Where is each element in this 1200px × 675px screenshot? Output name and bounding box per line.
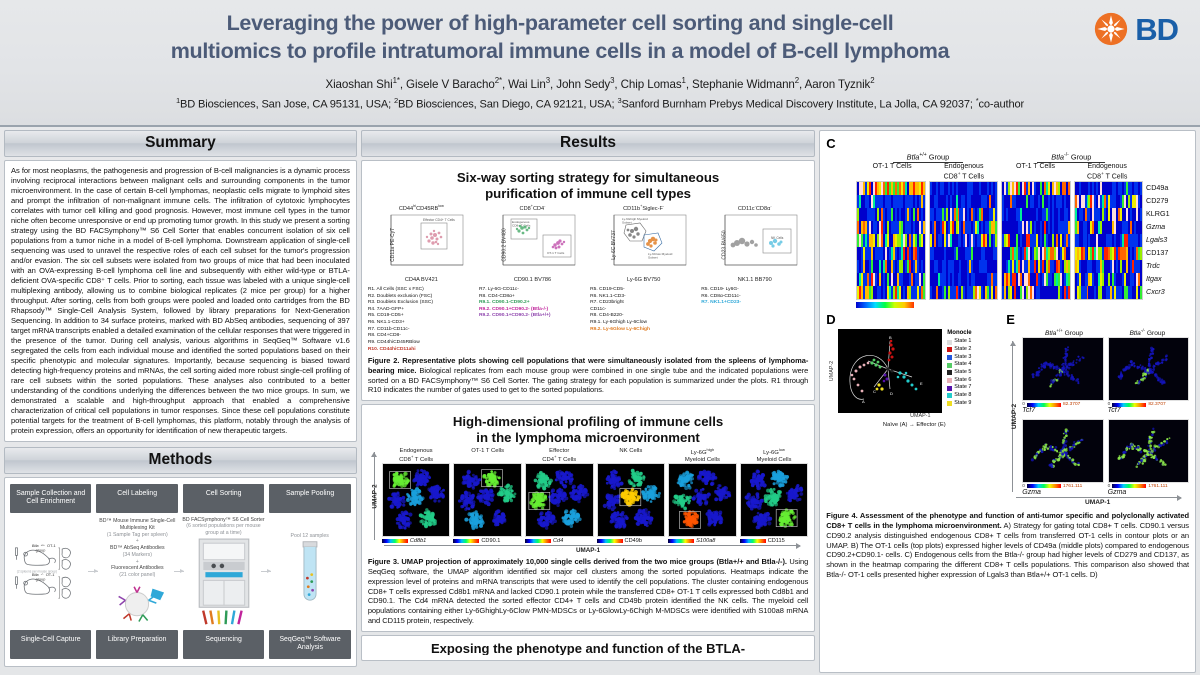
flow-plot-header: CD8+CD4- bbox=[520, 204, 546, 212]
figure5-panel-partial: Exposing the phenotype and function of t… bbox=[361, 635, 815, 661]
umap-panel-header: NK Cells bbox=[619, 448, 642, 463]
heatmap-cell bbox=[1068, 182, 1070, 195]
methods-mice-illustration: Btla +/+ OT-1 group bbox=[10, 539, 92, 602]
gating-entry: R1. All Cells (SSC x FSC) bbox=[368, 287, 475, 294]
heatmap-cell bbox=[1068, 286, 1070, 299]
gating-list-1: R1. All Cells (SSC x FSC)R2. Doublets ex… bbox=[368, 287, 475, 353]
figure3-panel: High-dimensional profiling of immune cel… bbox=[361, 404, 815, 631]
heatmap-row bbox=[1002, 247, 1069, 260]
panel-e-cell: 082.3707Tcf7 bbox=[1108, 337, 1189, 415]
middle-column: Results Six-way sorting strategy for sim… bbox=[361, 130, 815, 675]
panel-e-cell: 01761.111Gzma bbox=[1108, 419, 1189, 497]
umap-panel: EffectorCD4+ T CellsCd4 bbox=[525, 448, 594, 544]
heatmap-group-ko: Btla-/- Group bbox=[1000, 152, 1143, 163]
color-scale-bar bbox=[1112, 484, 1146, 488]
gating-list-3: R5. CD19-CD5-R6. NK1.1-CD3-R7. CD23brigh… bbox=[590, 287, 697, 353]
plus-sign-1: + bbox=[136, 538, 139, 544]
methods-sorter-illustration: BD FACSymphony™ S6 Cell Sorter (6 sorted… bbox=[182, 517, 264, 626]
heatmap-row bbox=[857, 234, 924, 247]
figure2-title: Six-way sorting strategy for simultaneou… bbox=[368, 170, 808, 201]
heatmap-cell bbox=[995, 221, 997, 234]
heatmap-cell bbox=[1140, 182, 1142, 195]
affiliation-list: 1BD Biosciences, San Jose, CA 95131, USA… bbox=[0, 96, 1200, 111]
gating-list-2: R7. Ly-6G-CD11c-R8. CD4-CD8α+R9.1. CD90.… bbox=[479, 287, 586, 353]
heatmap-cell bbox=[1068, 247, 1070, 260]
heatmap-row-label: CD279 bbox=[1146, 194, 1189, 207]
heatmap-row-label: Gzma bbox=[1146, 220, 1189, 233]
color-scale-bar bbox=[453, 539, 479, 543]
svg-text:A: A bbox=[862, 399, 865, 404]
figure3-title-line2: in the lymphoma microenvironment bbox=[368, 430, 808, 446]
figure2-plot-row: CD44hiCD45RBlow CD11a PE-Cy7 Effector CD… bbox=[368, 204, 808, 283]
monocle-pseudotime-caption: Naïve (A) → Effector (E) bbox=[826, 422, 1002, 428]
umap-panel-header: Ly-6GhighMyeloid Cells bbox=[685, 448, 720, 463]
legend-swatch bbox=[947, 393, 952, 398]
flow-plot-canvas: CD11a PE-Cy7 Effector CD4+ T Cells bbox=[377, 213, 465, 277]
figure3-umap-grid-wrap: UMAP-2 EndogenousCD8+ T CellsCd8b1OT-1 T… bbox=[368, 448, 808, 544]
umap-panel: Ly-6GlowMyeloid CellsCD115 bbox=[740, 448, 809, 544]
svg-text:Effector CD4+ T Cells: Effector CD4+ T Cells bbox=[423, 218, 455, 222]
panel-e-group-headers: Btla+/+ Group Btla-/- Group bbox=[1022, 328, 1189, 337]
heatmap-row bbox=[1075, 234, 1142, 247]
panel-e: E Btla+/+ Group Btla-/- Group UMAP-2 082… bbox=[1006, 312, 1189, 507]
gating-entry: R5. CD19-CD5- bbox=[590, 287, 697, 294]
panel-e-umap-image bbox=[1108, 337, 1189, 401]
figure2-title-line1: Six-way sorting strategy for simultaneou… bbox=[368, 170, 808, 186]
color-scale-bar bbox=[668, 539, 694, 543]
heatmap-row bbox=[857, 260, 924, 273]
flow-x-axis-label: NK1.1 BB790 bbox=[738, 277, 772, 283]
color-scale-bar bbox=[740, 539, 766, 543]
umap-marker-label: Cd4 bbox=[553, 538, 563, 544]
methods-step-cell-labeling: Cell Labeling bbox=[96, 484, 177, 513]
flow-x-axis-label: CD4A BV421 bbox=[405, 277, 438, 283]
legend-label: State 6 bbox=[954, 377, 971, 385]
monocle-legend-item: State 6 bbox=[947, 377, 971, 385]
heatmap-row bbox=[857, 208, 924, 221]
flow-plot-header: CD44hiCD45RBlow bbox=[399, 204, 444, 212]
fluor-name: Fluorescent Antibodies bbox=[111, 565, 163, 571]
instrument-name: BD FACSymphony™ S6 Cell Sorter bbox=[182, 517, 264, 523]
flow-x-axis-label: CD90.1 BV786 bbox=[514, 277, 551, 283]
heatmap-row bbox=[1002, 273, 1069, 286]
methods-pooling-illustration: Pool 12 samples bbox=[269, 533, 351, 609]
svg-text:NK Cells: NK Cells bbox=[771, 236, 784, 240]
figure2-panel: Six-way sorting strategy for simultaneou… bbox=[361, 160, 815, 401]
sorted-streams-icon bbox=[200, 609, 248, 625]
gating-entry: R7. Ly-6G-CD11c- bbox=[479, 287, 586, 294]
gating-entry: R7. CD23bright bbox=[590, 300, 697, 307]
kit-name: BD™ Mouse Immune Single-Cell Multiplexin… bbox=[99, 518, 175, 531]
heatmap-cell bbox=[1140, 286, 1142, 299]
svg-text:group: group bbox=[36, 549, 46, 553]
heatmap-row bbox=[930, 260, 997, 273]
svg-text:B: B bbox=[889, 335, 892, 340]
umap-color-scale: S100a8 bbox=[668, 538, 737, 544]
heatmap-row bbox=[1075, 286, 1142, 299]
heatmap-row-labels: CD49aCD279KLRG1GzmaLgals3CD137TrdcItgaxC… bbox=[1143, 181, 1189, 300]
flow-plot-cd8-cd4: CD8+CD4- CD90.2 BV480 Endogenous CD8+ T … bbox=[479, 204, 586, 283]
heatmap-cell bbox=[923, 273, 925, 286]
heatmap-row bbox=[1075, 208, 1142, 221]
legend-swatch bbox=[947, 355, 952, 360]
author-list: Xiaoshan Shi1*, Gisele V Baracho2*, Wai … bbox=[0, 76, 1200, 91]
svg-text:E: E bbox=[920, 381, 923, 386]
monocle-x-axis-label: UMAP-1 bbox=[838, 413, 1002, 419]
figure2-caption-rest: Biological replicates from each mouse gr… bbox=[368, 366, 808, 395]
figure3-title: High-dimensional profiling of immune cel… bbox=[368, 414, 808, 445]
heatmap-row-label: CD49a bbox=[1146, 181, 1189, 194]
flow-x-axis-label: Ly-6G BV750 bbox=[627, 277, 660, 283]
heatmap-cell bbox=[1068, 234, 1070, 247]
heatmap-row-label: CD137 bbox=[1146, 246, 1189, 259]
page-title: Leveraging the power of high-parameter c… bbox=[0, 6, 1200, 65]
panel-e-letter: E bbox=[1006, 312, 1189, 327]
flow-y-axis-label: CD90.2 BV480 bbox=[501, 228, 507, 261]
heatmap-group-wt: Btla+/+ Group bbox=[856, 152, 999, 163]
legend-label: State 5 bbox=[954, 369, 971, 377]
panel-d: D UMAP-2 bbox=[826, 312, 1002, 507]
umap-marker-label: S100a8 bbox=[696, 538, 715, 544]
poster-header: Leveraging the power of high-parameter c… bbox=[0, 0, 1200, 127]
panel-e-umap-image bbox=[1022, 419, 1103, 483]
heatmap-cell bbox=[1068, 273, 1070, 286]
legend-swatch bbox=[947, 401, 952, 406]
umap-color-scale: CD90.1 bbox=[453, 538, 522, 544]
panel-e-y-axis: UMAP-2 bbox=[1006, 337, 1022, 496]
heatmap-cell bbox=[923, 247, 925, 260]
heatmap-block bbox=[856, 181, 925, 300]
umap-marker-label: CD49b bbox=[625, 538, 642, 544]
heatmap-cell bbox=[995, 234, 997, 247]
legend-swatch bbox=[947, 340, 952, 345]
heatmap-row bbox=[1075, 221, 1142, 234]
title-line-2: multiomics to profile intratumoral immun… bbox=[40, 38, 1080, 66]
left-column: Summary As for most neoplasms, the patho… bbox=[4, 130, 357, 675]
heatmap-cell bbox=[1068, 221, 1070, 234]
panel-e-y-axis-label: UMAP-2 bbox=[1011, 404, 1018, 429]
heatmap-cell bbox=[923, 195, 925, 208]
flow-y-axis-label: CD23 BV650 bbox=[721, 230, 727, 259]
heatmap-row bbox=[1075, 260, 1142, 273]
heatmap-blocks bbox=[856, 181, 1143, 300]
panel-e-gene-label: Tcf7 bbox=[1022, 407, 1103, 415]
methods-instrument-label: BD FACSymphony™ S6 Cell Sorter (6 sorted… bbox=[182, 517, 264, 537]
flow-plot-canvas: CD23 BV650 NK Cells bbox=[711, 213, 799, 277]
instrument-note: (6 sorted populations per mouse group at… bbox=[186, 523, 260, 536]
legend-swatch bbox=[947, 347, 952, 352]
figure5-title-partial: Exposing the phenotype and function of t… bbox=[368, 641, 808, 655]
heatmap-row bbox=[930, 208, 997, 221]
summary-heading: Summary bbox=[4, 130, 357, 157]
figure3-caption-bold: Figure 3. UMAP projection of approximate… bbox=[368, 557, 787, 566]
figure3-caption: Figure 3. UMAP projection of approximate… bbox=[368, 557, 808, 625]
umap-heatmap-image bbox=[382, 463, 451, 537]
heatmap-cell bbox=[995, 273, 997, 286]
flow-plot-canvas: CD90.2 BV480 Endogenous CD8+ T Cells OT-… bbox=[489, 213, 577, 277]
heatmap-row bbox=[930, 182, 997, 195]
flow-plot-cd44-cd45rb: CD44hiCD45RBlow CD11a PE-Cy7 Effector CD… bbox=[368, 204, 475, 283]
figure2-gating-lists: R1. All Cells (SSC x FSC)R2. Doublets ex… bbox=[368, 287, 808, 353]
panel-e-group-ko: Btla-/- Group bbox=[1106, 328, 1189, 337]
heatmap-row bbox=[1002, 286, 1069, 299]
summary-text: As for most neoplasms, the pathogenesis … bbox=[11, 166, 350, 436]
heatmap-subgroup-ot1-ko: OT-1 T Cells bbox=[1000, 163, 1072, 180]
umap-panel: Ly-6GhighMyeloid CellsS100a8 bbox=[668, 448, 737, 544]
heatmap-subgroup-headers: OT-1 T Cells EndogenousCD8+ T Cells OT-1… bbox=[856, 163, 1143, 180]
gating-entry: R10. CD44hiCD11ahi bbox=[368, 347, 475, 354]
monocle-legend-item: State 8 bbox=[947, 392, 971, 400]
abseq-note: (34 Markers) bbox=[123, 552, 152, 558]
color-scale-bar bbox=[1027, 403, 1061, 407]
heatmap-cell bbox=[923, 260, 925, 273]
monocle-svg: BAC DE bbox=[838, 329, 942, 413]
umap-panel-header: OT-1 T Cells bbox=[471, 448, 504, 463]
methods-bottom-steps: Single-Cell Capture Library Preparation … bbox=[10, 630, 351, 659]
methods-kit-label: BD™ Mouse Immune Single-Cell Multiplexin… bbox=[96, 518, 178, 579]
flow-y-axis-label: Ly-6C BV737 bbox=[610, 230, 616, 260]
methods-pool-label: Pool 12 samples bbox=[291, 533, 329, 540]
poster-root: Leveraging the power of high-parameter c… bbox=[0, 0, 1200, 675]
panels-d-e-wrap: D UMAP-2 bbox=[826, 312, 1189, 507]
heatmap-row bbox=[1002, 182, 1069, 195]
heatmap-row bbox=[930, 221, 997, 234]
color-scale-max: 82.3707 bbox=[1148, 402, 1165, 407]
umap-heatmap-image bbox=[740, 463, 809, 537]
legend-label: State 9 bbox=[954, 400, 971, 408]
figure3-x-axis-label: UMAP-1 bbox=[368, 547, 808, 554]
heatmap-row bbox=[1075, 273, 1142, 286]
bd-burst-icon bbox=[1094, 12, 1128, 46]
legend-label: State 1 bbox=[954, 338, 971, 346]
umap-color-scale: Cd8b1 bbox=[382, 538, 451, 544]
heatmap-row-label: KLRG1 bbox=[1146, 207, 1189, 220]
svg-text:+/+: +/+ bbox=[41, 543, 45, 547]
legend-label: State 3 bbox=[954, 354, 971, 362]
heatmap-row bbox=[1002, 234, 1069, 247]
x-axis-arrow-icon bbox=[384, 545, 800, 546]
color-scale-bar bbox=[525, 539, 551, 543]
monocle-trajectory-plot: BAC DE bbox=[838, 329, 942, 413]
heatmap-group-headers: Btla+/+ Group Btla-/- Group bbox=[856, 152, 1143, 163]
legend-label: State 8 bbox=[954, 392, 971, 400]
figure2-title-line2: purification of immune cell types bbox=[368, 186, 808, 202]
summary-panel: As for most neoplasms, the pathogenesis … bbox=[4, 160, 357, 442]
svg-text:OT-1 T Cells: OT-1 T Cells bbox=[547, 251, 565, 255]
flow-plot-cd11b-siglecf: CD11b+Siglec-F- Ly-6C BV737 Ly-6Ghigh My… bbox=[590, 204, 697, 283]
right-column: C Btla+/+ Group Btla-/- Group OT-1 T Cel… bbox=[819, 130, 1196, 675]
color-scale-bar bbox=[1027, 484, 1061, 488]
bd-logo: BD bbox=[1094, 12, 1178, 46]
umap-heatmap-image bbox=[597, 463, 666, 537]
abseq-name: BD™ AbSeq Antibodies bbox=[110, 545, 165, 551]
heatmap-cell bbox=[1068, 260, 1070, 273]
plus-sign-2: + bbox=[136, 559, 139, 565]
heatmap-row bbox=[1002, 195, 1069, 208]
monocle-legend-item: State 2 bbox=[947, 346, 971, 354]
legend-label: State 7 bbox=[954, 384, 971, 392]
heatmap-cell bbox=[923, 234, 925, 247]
methods-step-sample-pooling: Sample Pooling bbox=[269, 484, 350, 513]
figure3-y-axis: UMAP-2 bbox=[368, 448, 382, 544]
color-scale-max: 82.3707 bbox=[1063, 402, 1080, 407]
heatmap-block bbox=[929, 181, 998, 300]
gating-entry: R9.2. Ly-6Glow Ly-6Chigh bbox=[590, 327, 697, 334]
heatmap-cell bbox=[995, 208, 997, 221]
methods-step-seqgeq-analysis: SeqGeq™ Software Analysis bbox=[269, 630, 350, 659]
umap-panel: OT-1 T CellsCD90.1 bbox=[453, 448, 522, 544]
bd-logo-text: BD bbox=[1135, 14, 1178, 45]
mouse-diagram-icon: Btla +/+ OT-1 group bbox=[13, 539, 89, 602]
heatmap-row bbox=[1075, 247, 1142, 260]
umap-panel-header: EndogenousCD8+ T Cells bbox=[399, 448, 433, 463]
heatmap-row bbox=[930, 234, 997, 247]
heatmap-row bbox=[930, 247, 997, 260]
gating-entry: R6. NK1.1-CD3+ bbox=[368, 320, 475, 327]
color-scale-bar bbox=[1112, 403, 1146, 407]
heatmap-row-label: Trdc bbox=[1146, 259, 1189, 272]
umap-marker-label: CD90.1 bbox=[481, 538, 500, 544]
panel-c-letter: C bbox=[826, 136, 1189, 151]
heatmap-subgroup-ot1-wt: OT-1 T Cells bbox=[856, 163, 928, 180]
monocle-legend-item: State 7 bbox=[947, 384, 971, 392]
heatmap-block bbox=[1074, 181, 1143, 300]
poster-body: Summary As for most neoplasms, the patho… bbox=[0, 127, 1200, 675]
color-scale-max: 1761.111 bbox=[1148, 484, 1167, 489]
gating-entry: R9. CD44hiCD45RBlow bbox=[368, 340, 475, 347]
gating-entry: R5. CD19- Ly6G- bbox=[701, 287, 808, 294]
gating-list-4: R5. CD19- Ly6G-R6. CD8α-CD11c-R7. NK1.1+… bbox=[701, 287, 808, 353]
figure3-y-axis-label: UMAP-2 bbox=[371, 484, 378, 508]
umap-marker-label: Cd8b1 bbox=[410, 538, 426, 544]
sample-tube-icon bbox=[297, 540, 323, 609]
flow-plot-header: CD11b+Siglec-F- bbox=[623, 204, 664, 212]
heatmap-row-label: Cxcr3 bbox=[1146, 285, 1189, 298]
heatmap-row-label: Itgax bbox=[1146, 272, 1189, 285]
fluor-note: (21 color panel) bbox=[119, 572, 155, 578]
legend-swatch bbox=[947, 370, 952, 375]
panel-e-x-axis-label: UMAP-1 bbox=[1006, 499, 1189, 506]
svg-text:Subset: Subset bbox=[622, 221, 632, 225]
heatmap-row-label: Lgals3 bbox=[1146, 233, 1189, 246]
gating-entry: R8. CD4+CD8- bbox=[368, 333, 475, 340]
panel-e-grid: 082.3707Tcf7082.3707Tcf701761.111Gzma017… bbox=[1022, 337, 1189, 496]
panel-e-cell: 082.3707Tcf7 bbox=[1022, 337, 1103, 415]
monocle-legend-item: State 5 bbox=[947, 369, 971, 377]
svg-text:group: group bbox=[36, 578, 46, 582]
heatmap-row bbox=[857, 273, 924, 286]
methods-step-sequencing: Sequencing bbox=[183, 630, 264, 659]
flow-plot-header: CD11c-CD8α- bbox=[738, 204, 772, 212]
monocle-legend: MonocleState 1State 2State 3State 4State… bbox=[947, 329, 971, 413]
methods-panel: Sample Collection and Cell Enrichment Ce… bbox=[4, 477, 357, 668]
umap-heatmap-image bbox=[525, 463, 594, 537]
heatmap-row bbox=[1002, 208, 1069, 221]
legend-swatch bbox=[947, 378, 952, 383]
gating-entry: R3. Doublets Exclusion (SSC) bbox=[368, 300, 475, 307]
heatmap-cell bbox=[1140, 208, 1142, 221]
figure3-title-line1: High-dimensional profiling of immune cel… bbox=[368, 414, 808, 430]
figure3-umap-grid: EndogenousCD8+ T CellsCd8b1OT-1 T CellsC… bbox=[382, 448, 808, 544]
svg-text:Btla: Btla bbox=[32, 544, 40, 549]
monocle-y-axis: UMAP-2 bbox=[826, 329, 838, 413]
heatmap-cell bbox=[1068, 208, 1070, 221]
heatmap-cell bbox=[1140, 247, 1142, 260]
gating-entry: R9.1. CD90.1-CD90.2+ bbox=[479, 300, 586, 307]
methods-step-sample-collection: Sample Collection and Cell Enrichment bbox=[10, 484, 91, 513]
heatmap-row bbox=[1075, 182, 1142, 195]
x-axis-arrow-icon bbox=[1016, 497, 1181, 498]
heatmap-cell bbox=[923, 208, 925, 221]
heatmap-cell bbox=[1140, 260, 1142, 273]
heatmap-subgroup-endo-wt: EndogenousCD8+ T Cells bbox=[928, 163, 1000, 180]
heatmap-cell bbox=[1140, 195, 1142, 208]
panel-e-umap-image bbox=[1108, 419, 1189, 483]
methods-diagram: Btla +/+ OT-1 group bbox=[10, 519, 351, 623]
heatmap-row bbox=[930, 286, 997, 299]
antibody-bead-icon bbox=[108, 579, 166, 623]
monocle-plot-row: UMAP-2 bbox=[826, 329, 1002, 413]
flow-plot-canvas: Ly-6C BV737 Ly-6Ghigh Myeloid Subset Ly-… bbox=[600, 213, 688, 277]
heatmap-row bbox=[930, 273, 997, 286]
heatmap-cell bbox=[923, 286, 925, 299]
methods-step-single-cell-capture: Single-Cell Capture bbox=[10, 630, 91, 659]
figure4-caption: Figure 4. Assessment of the phenotype an… bbox=[826, 511, 1189, 579]
methods-step-library-prep: Library Preparation bbox=[96, 630, 177, 659]
gating-entry: R7. NK1.1+CD23- bbox=[701, 300, 808, 307]
umap-panel-header: EffectorCD4+ T Cells bbox=[542, 448, 576, 463]
heatmap-subgroup-endo-ko: EndogenousCD8+ T Cells bbox=[1071, 163, 1143, 180]
color-scale-bar bbox=[382, 539, 408, 543]
methods-step-cell-sorting: Cell Sorting bbox=[183, 484, 264, 513]
heatmap-main: CD49aCD279KLRG1GzmaLgals3CD137TrdcItgaxC… bbox=[856, 181, 1189, 300]
panel-e-umap-image bbox=[1022, 337, 1103, 401]
umap-heatmap-image bbox=[668, 463, 737, 537]
umap-color-scale: CD49b bbox=[597, 538, 666, 544]
umap-panel-header: Ly-6GlowMyeloid Cells bbox=[756, 448, 791, 463]
gating-entry: R9.1. Ly-6Ghigh Ly-6Clow bbox=[590, 320, 697, 327]
monocle-legend-item: State 4 bbox=[947, 361, 971, 369]
panel-e-gene-label: Tcf7 bbox=[1108, 407, 1189, 415]
pool-note: Pool 12 samples bbox=[291, 533, 329, 539]
heatmap-row bbox=[1075, 195, 1142, 208]
monocle-legend-item: State 1 bbox=[947, 338, 971, 346]
panel-e-group-wt: Btla+/+ Group bbox=[1022, 328, 1105, 337]
heatmap-cell bbox=[923, 182, 925, 195]
color-scale-max: 1761.111 bbox=[1063, 484, 1082, 489]
kit-note: (1 Sample Tag per spleen) bbox=[107, 532, 168, 538]
umap-heatmap-image bbox=[453, 463, 522, 537]
methods-labeling-illustration: BD™ Mouse Immune Single-Cell Multiplexin… bbox=[96, 518, 178, 623]
umap-marker-label: CD115 bbox=[768, 538, 785, 544]
heatmap-cell bbox=[995, 286, 997, 299]
svg-text:OT-1: OT-1 bbox=[47, 544, 56, 549]
heatmap-row bbox=[857, 286, 924, 299]
cell-sorter-icon bbox=[193, 537, 255, 609]
svg-text:(2 spleens per mouse group): (2 spleens per mouse group) bbox=[17, 570, 57, 574]
monocle-legend-title: Monocle bbox=[947, 329, 971, 338]
svg-text:D: D bbox=[890, 391, 893, 396]
heatmap-row bbox=[857, 195, 924, 208]
heatmap-cell bbox=[1140, 221, 1142, 234]
heatmap-cell bbox=[995, 247, 997, 260]
title-line-1: Leveraging the power of high-parameter c… bbox=[40, 10, 1080, 38]
heatmap-row bbox=[857, 182, 924, 195]
color-scale-bar bbox=[597, 539, 623, 543]
umap-panel: EndogenousCD8+ T CellsCd8b1 bbox=[382, 448, 451, 544]
svg-text:C: C bbox=[873, 389, 876, 394]
heatmap-color-scale bbox=[856, 302, 914, 308]
